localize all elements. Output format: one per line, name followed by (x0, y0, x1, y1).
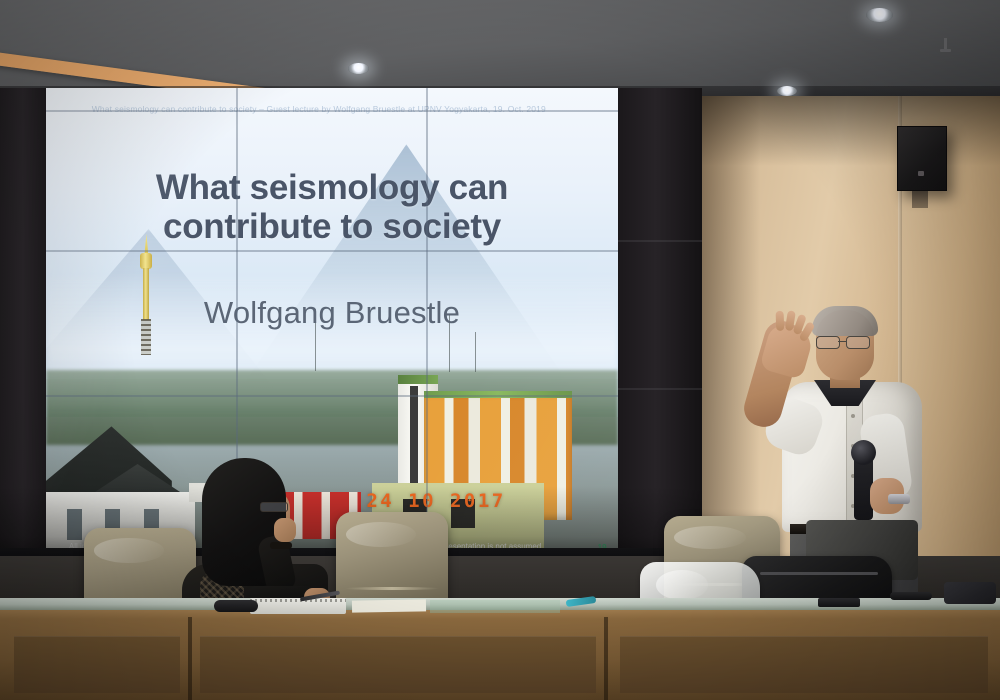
downlight-1-icon (348, 63, 369, 74)
wall-shadow-top (700, 96, 1000, 166)
presentation-slide: JATAYU 24 10 2017 What seismology can co… (46, 88, 618, 558)
pouch (944, 582, 996, 604)
paper-sheet (352, 599, 426, 612)
bezel-horizontal-1 (46, 110, 618, 112)
video-wall-inactive-left (0, 88, 46, 558)
slide-title: What seismology can contribute to societ… (46, 168, 618, 246)
bezel-horizontal-3 (46, 395, 618, 397)
bezel-vertical-2 (426, 88, 428, 558)
bezel-horizontal-2 (46, 250, 618, 252)
wall-loudspeaker-icon (897, 126, 947, 191)
downlight-2-icon (866, 8, 893, 22)
presenter-raised-hand (759, 322, 815, 380)
slide-title-line-2: contribute to society (46, 207, 618, 246)
presenter-wristwatch-icon (888, 494, 910, 504)
mobile-phone (818, 598, 860, 607)
notebook (250, 598, 346, 614)
presenter-hair (812, 306, 878, 336)
attendee-wristwatch-icon (270, 542, 292, 549)
slide-header-text: What seismology can contribute to societ… (92, 104, 584, 114)
downlight-3-icon (777, 86, 797, 96)
slide-photo-mast-3 (475, 332, 476, 372)
presenter-glasses-icon (816, 336, 872, 347)
slide-photo-white-tower-roof (398, 375, 438, 384)
video-wall: JATAYU 24 10 2017 What seismology can co… (0, 88, 702, 558)
backpack-zipper (760, 572, 878, 575)
mouse (214, 600, 258, 612)
camera-date-stamp: 24 10 2017 (366, 490, 505, 512)
slide-title-line-1: What seismology can (46, 168, 618, 207)
slide-author: Wolfgang Bruestle (46, 295, 618, 331)
lecture-hall-photo: JATAYU 24 10 2017 What seismology can co… (0, 0, 1000, 700)
sprinkler-head-icon (944, 38, 947, 51)
video-wall-inactive-right (618, 88, 702, 558)
table-green-pad (430, 600, 560, 613)
attendee-glasses-icon (260, 502, 288, 512)
attendee-hand-at-face (274, 518, 296, 542)
remote-control (890, 592, 932, 600)
